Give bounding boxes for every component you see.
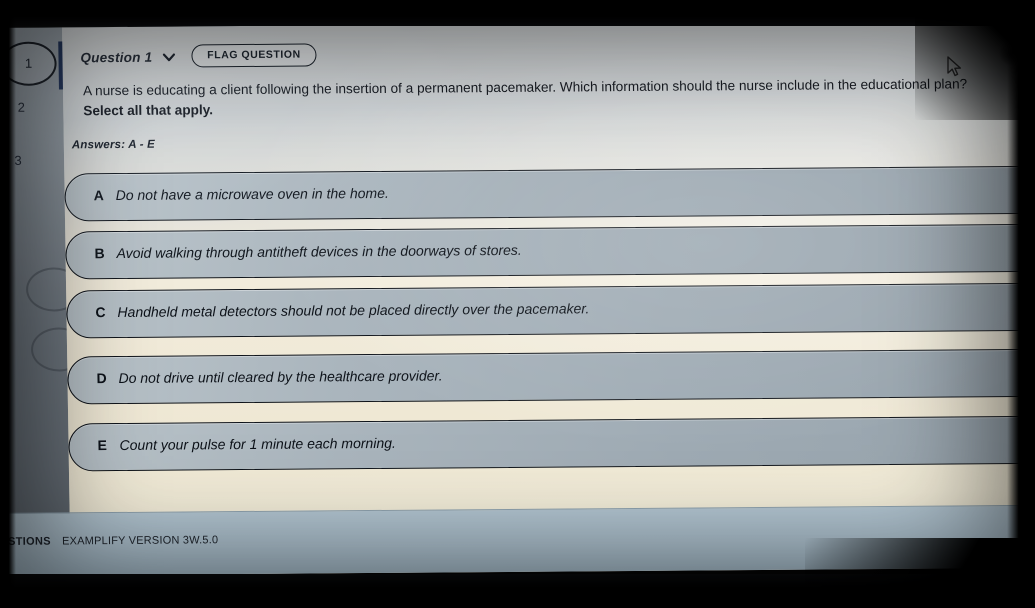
footer-version-label: EXAMPLIFY VERSION 3W.5.0	[62, 534, 218, 547]
answer-option-letter: B	[94, 245, 104, 261]
answer-option-e[interactable]: E Count your pulse for 1 minute each mor…	[68, 416, 1035, 472]
photo-bezel-top-right	[915, 0, 1035, 120]
answer-option-text: Avoid walking through antitheft devices …	[116, 242, 521, 261]
answer-option-letter: A	[94, 187, 104, 203]
answer-option-d[interactable]: D Do not drive until cleared by the heal…	[67, 349, 1035, 405]
laptop-screen: Examplify 1 2 3 4 Question 1	[0, 20, 1035, 576]
flag-question-button[interactable]: FLAG QUESTION	[191, 43, 317, 67]
answers-range-label: Answers: A - E	[72, 139, 155, 152]
question-stem-emphasis: Select all that apply.	[83, 102, 213, 118]
photo-bezel-top	[0, 0, 1035, 26]
answer-option-c[interactable]: C Handheld metal detectors should not be…	[66, 283, 1035, 339]
answer-option-text: Handheld metal detectors should not be p…	[117, 300, 589, 320]
answer-option-b[interactable]: B Avoid walking through antitheft device…	[65, 224, 1035, 280]
answer-option-a[interactable]: A Do not have a microwave oven in the ho…	[64, 166, 1035, 222]
question-label: Question 1	[80, 45, 152, 72]
answer-option-letter: E	[97, 437, 107, 453]
photo-bezel-bottom-right	[805, 538, 1035, 608]
answer-option-letter: C	[95, 304, 105, 320]
answer-option-text: Count your pulse for 1 minute each morni…	[119, 435, 396, 453]
question-stem: A nurse is educating a client following …	[83, 74, 999, 121]
question-stem-text: A nurse is educating a client following …	[83, 76, 967, 98]
photo-of-laptop-screen: Examplify 1 2 3 4 Question 1	[0, 0, 1035, 608]
question-header: Question 1 FLAG QUESTION	[80, 43, 317, 71]
photo-bezel-left	[0, 0, 16, 608]
question-content-panel: Question 1 FLAG QUESTION A nurse is educ…	[62, 20, 1035, 576]
chevron-down-icon[interactable]	[162, 51, 175, 64]
answer-option-letter: D	[96, 370, 106, 386]
answer-option-text: Do not drive until cleared by the health…	[118, 367, 442, 386]
answer-option-text: Do not have a microwave oven in the home…	[116, 185, 389, 203]
